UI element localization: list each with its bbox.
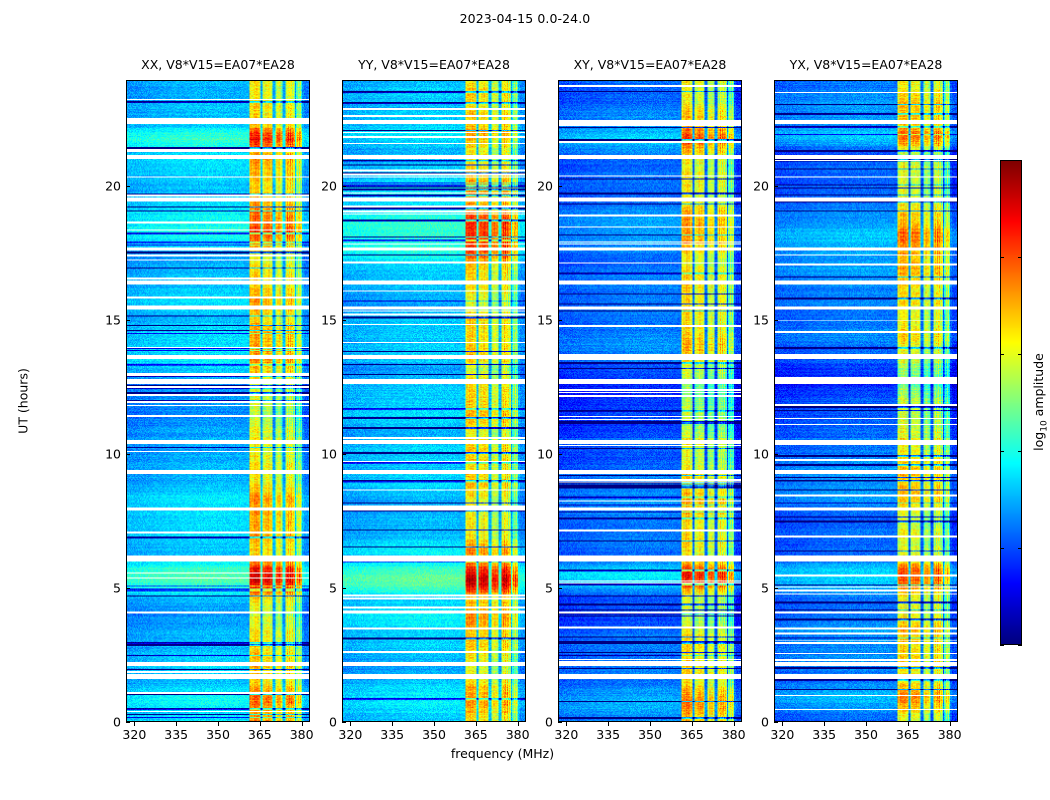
x-tick-label: 320	[770, 727, 794, 742]
x-tick-label: 320	[554, 727, 578, 742]
x-tick-mark	[134, 722, 135, 726]
y-tick-label: 5	[113, 580, 121, 595]
y-tick-mark	[342, 454, 346, 455]
x-tick-label: 350	[206, 727, 230, 742]
x-tick-mark	[260, 722, 261, 726]
figure-suptitle: 2023-04-15 0.0-24.0	[0, 11, 1050, 26]
x-tick-mark	[908, 722, 909, 726]
colorbar-tick-mark	[1018, 257, 1022, 258]
x-tick-label: 380	[290, 727, 314, 742]
x-tick-label: 380	[938, 727, 962, 742]
colorbar-tick-mark	[1018, 548, 1022, 549]
colorbar-tick-mark	[1018, 160, 1022, 161]
x-tick-mark	[692, 722, 693, 726]
x-tick-mark	[350, 722, 351, 726]
y-tick-mark	[774, 186, 778, 187]
x-tick-mark	[302, 722, 303, 726]
y-tick-mark	[558, 588, 562, 589]
x-tick-label: 365	[248, 727, 272, 742]
x-tick-label: 350	[638, 727, 662, 742]
x-tick-mark	[518, 722, 519, 726]
y-tick-label: 15	[105, 312, 121, 327]
x-tick-mark	[782, 722, 783, 726]
y-tick-mark	[558, 186, 562, 187]
x-tick-mark	[476, 722, 477, 726]
y-tick-label: 5	[329, 580, 337, 595]
x-tick-mark	[950, 722, 951, 726]
matplotlib-figure: 2023-04-15 0.0-24.0 UT (hours) frequency…	[0, 0, 1050, 800]
x-tick-label: 365	[464, 727, 488, 742]
y-tick-label: 0	[113, 715, 121, 730]
x-tick-mark	[176, 722, 177, 726]
x-tick-label: 335	[380, 727, 404, 742]
colorbar-tick-mark	[1000, 160, 1004, 161]
x-tick-label: 380	[506, 727, 530, 742]
y-tick-mark	[342, 588, 346, 589]
x-tick-mark	[866, 722, 867, 726]
y-tick-mark	[126, 722, 130, 723]
y-tick-mark	[558, 320, 562, 321]
panel-yx[interactable]	[774, 80, 958, 722]
y-tick-mark	[126, 588, 130, 589]
x-tick-mark	[218, 722, 219, 726]
x-tick-label: 335	[164, 727, 188, 742]
y-tick-label: 15	[537, 312, 553, 327]
panel-xx[interactable]	[126, 80, 310, 722]
colorbar-tick-mark	[1018, 354, 1022, 355]
y-tick-label: 10	[321, 446, 337, 461]
x-tick-label: 320	[338, 727, 362, 742]
colorbar-tick-mark	[1000, 257, 1004, 258]
y-tick-label: 20	[753, 178, 769, 193]
panel-xy[interactable]	[558, 80, 742, 722]
y-tick-label: 10	[753, 446, 769, 461]
y-tick-label: 20	[537, 178, 553, 193]
y-tick-mark	[558, 722, 562, 723]
y-tick-label: 15	[321, 312, 337, 327]
y-tick-label: 5	[761, 580, 769, 595]
colorbar-label-text: log10 amplitude	[1031, 353, 1046, 451]
panel-yy[interactable]	[342, 80, 526, 722]
colorbar-tick-mark	[1018, 451, 1022, 452]
colorbar-tick-mark	[1018, 645, 1022, 646]
y-tick-label: 10	[537, 446, 553, 461]
x-tick-label: 365	[896, 727, 920, 742]
y-tick-mark	[342, 722, 346, 723]
x-tick-mark	[566, 722, 567, 726]
colorbar	[1000, 160, 1022, 645]
colorbar-tick-mark	[1000, 645, 1004, 646]
x-tick-label: 335	[596, 727, 620, 742]
panel-title-yx: YX, V8*V15=EA07*EA28	[734, 57, 998, 72]
colorbar-tick-mark	[1000, 451, 1004, 452]
y-axis-label: UT (hours)	[16, 368, 31, 434]
y-tick-mark	[126, 186, 130, 187]
y-tick-label: 0	[761, 715, 769, 730]
x-axis-label: frequency (MHz)	[0, 746, 1005, 761]
y-tick-mark	[774, 454, 778, 455]
y-tick-mark	[126, 320, 130, 321]
y-tick-label: 0	[545, 715, 553, 730]
x-tick-mark	[434, 722, 435, 726]
x-tick-mark	[650, 722, 651, 726]
y-tick-label: 20	[321, 178, 337, 193]
y-tick-mark	[342, 320, 346, 321]
y-tick-label: 20	[105, 178, 121, 193]
x-tick-label: 380	[722, 727, 746, 742]
x-tick-mark	[734, 722, 735, 726]
x-tick-label: 350	[854, 727, 878, 742]
x-tick-mark	[392, 722, 393, 726]
y-tick-label: 10	[105, 446, 121, 461]
x-tick-label: 335	[812, 727, 836, 742]
y-tick-label: 15	[753, 312, 769, 327]
colorbar-tick-mark	[1000, 354, 1004, 355]
y-tick-mark	[774, 722, 778, 723]
y-tick-mark	[774, 588, 778, 589]
y-tick-label: 5	[545, 580, 553, 595]
y-tick-label: 0	[329, 715, 337, 730]
x-tick-label: 350	[422, 727, 446, 742]
x-tick-label: 365	[680, 727, 704, 742]
colorbar-tick-mark	[1000, 548, 1004, 549]
y-tick-mark	[558, 454, 562, 455]
x-tick-label: 320	[122, 727, 146, 742]
y-tick-mark	[126, 454, 130, 455]
y-tick-mark	[342, 186, 346, 187]
x-tick-mark	[824, 722, 825, 726]
colorbar-label: log10 amplitude	[1031, 353, 1050, 451]
y-tick-mark	[774, 320, 778, 321]
x-tick-mark	[608, 722, 609, 726]
